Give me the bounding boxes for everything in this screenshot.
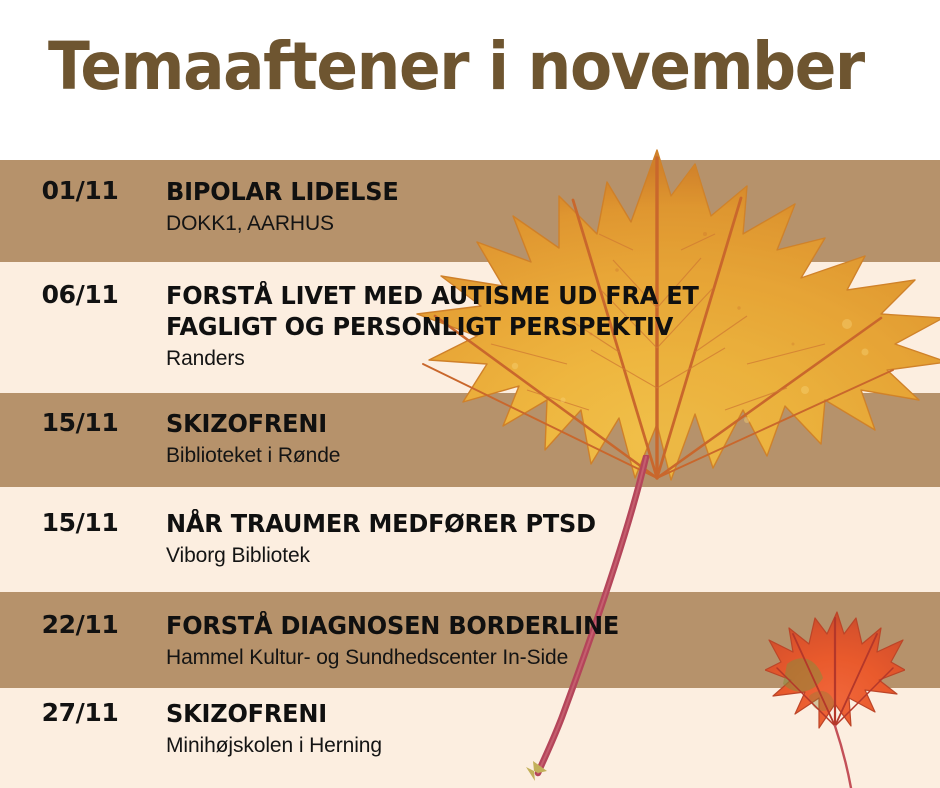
event-title: FORSTÅ DIAGNOSEN BORDERLINE	[166, 610, 909, 641]
event-row[interactable]: 01/11 BIPOLAR LIDELSE DOKK1, AARHUS	[0, 176, 940, 237]
event-date: 22/11	[0, 610, 160, 639]
page-title: Temaaftener i november	[48, 28, 864, 105]
event-row[interactable]: 22/11 FORSTÅ DIAGNOSEN BORDERLINE Hammel…	[0, 610, 940, 671]
event-row[interactable]: 27/11 SKIZOFRENI Minihøjskolen i Herning	[0, 698, 940, 759]
event-date: 27/11	[0, 698, 160, 727]
title-banner: Temaaftener i november	[0, 0, 940, 160]
event-title: SKIZOFRENI	[166, 698, 909, 729]
event-date: 15/11	[0, 408, 160, 437]
event-row[interactable]: 15/11 SKIZOFRENI Biblioteket i Rønde	[0, 408, 940, 469]
event-venue: Biblioteket i Rønde	[166, 442, 940, 469]
event-venue: DOKK1, AARHUS	[166, 210, 940, 237]
event-title: NÅR TRAUMER MEDFØRER PTSD	[166, 508, 909, 539]
event-row[interactable]: 06/11 FORSTÅ LIVET MED AUTISME UD FRA ET…	[0, 280, 940, 372]
event-title: FORSTÅ LIVET MED AUTISME UD FRA ET FAGLI…	[166, 280, 752, 342]
event-date: 06/11	[0, 280, 160, 309]
poster-canvas: Temaaftener i november 01/11 BIPOLAR LID…	[0, 0, 940, 788]
event-venue: Randers	[166, 345, 776, 372]
event-date: 15/11	[0, 508, 160, 537]
event-title: BIPOLAR LIDELSE	[166, 176, 909, 207]
event-title: SKIZOFRENI	[166, 408, 909, 439]
event-date: 01/11	[0, 176, 160, 205]
event-row[interactable]: 15/11 NÅR TRAUMER MEDFØRER PTSD Viborg B…	[0, 508, 940, 569]
event-venue: Hammel Kultur- og Sundhedscenter In-Side	[166, 644, 940, 671]
event-venue: Minihøjskolen i Herning	[166, 732, 940, 759]
event-venue: Viborg Bibliotek	[166, 542, 940, 569]
